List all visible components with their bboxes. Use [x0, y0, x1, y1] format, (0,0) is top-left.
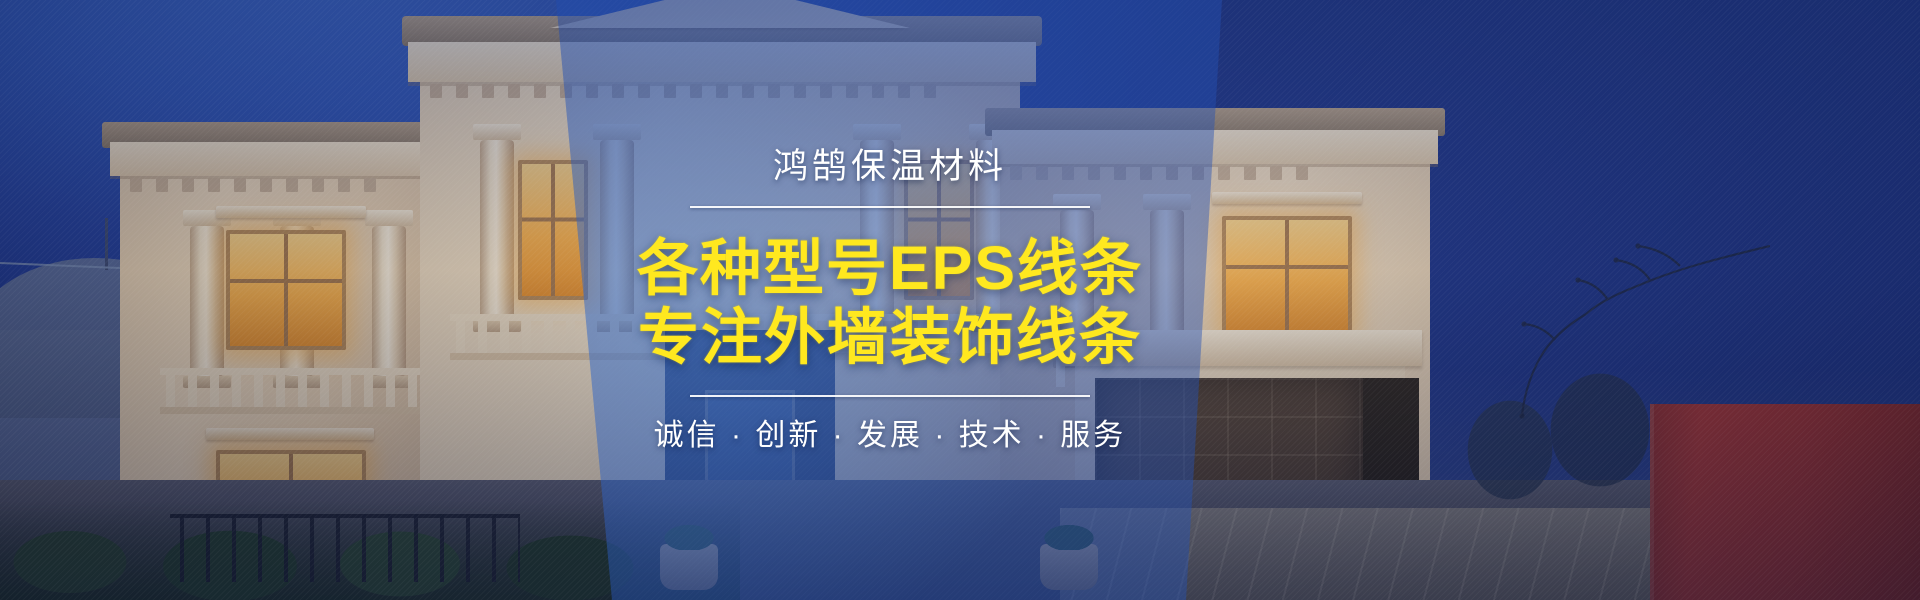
headline-line-1: 各种型号EPS线条 [637, 234, 1143, 302]
headline-line-2: 专注外墙装饰线条 [638, 303, 1142, 371]
tagline: 诚信 · 创新 · 发展 · 技术 · 服务 [654, 421, 1127, 451]
divider-bottom [690, 395, 1090, 397]
banner-copy: 鸿鹄保温材料 各种型号EPS线条 专注外墙装饰线条 诚信 · 创新 · 发展 ·… [556, 0, 1224, 600]
brand-eyebrow: 鸿鹄保温材料 [773, 149, 1007, 184]
hero-banner: 鸿鹄保温材料 各种型号EPS线条 专注外墙装饰线条 诚信 · 创新 · 发展 ·… [0, 0, 1920, 600]
divider-top [690, 206, 1090, 208]
